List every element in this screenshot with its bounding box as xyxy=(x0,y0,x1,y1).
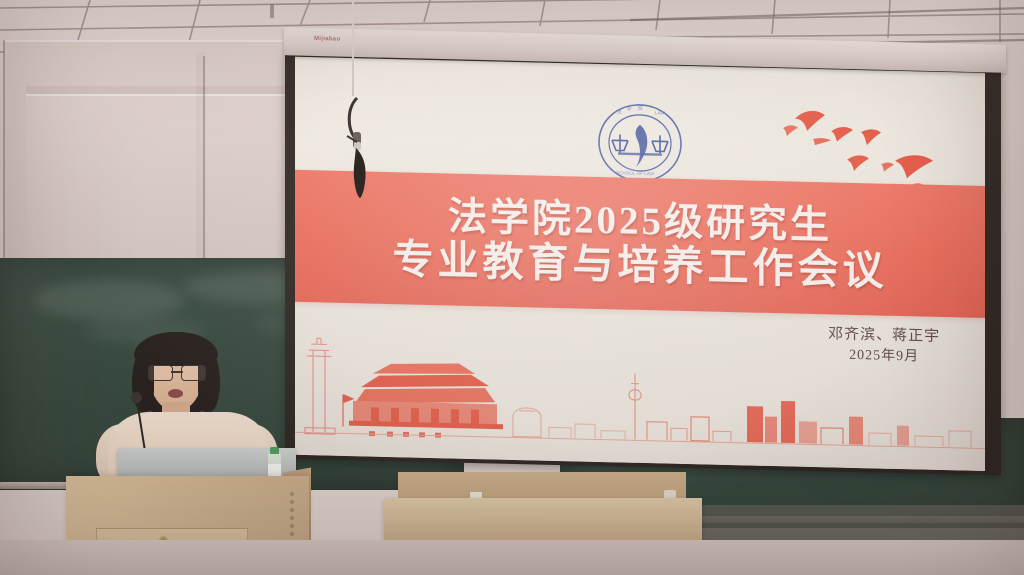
floor xyxy=(0,540,1024,575)
presentation-slide: 法学 院· LAW SCHOOL OF LAW xyxy=(295,57,985,471)
hanging-microphone-icon xyxy=(345,92,379,200)
projection-screen[interactable]: 法学 院· LAW SCHOOL OF LAW xyxy=(284,36,1006,468)
water-bottle-label xyxy=(268,464,281,476)
svg-text:SCHOOL OF LAW: SCHOOL OF LAW xyxy=(616,170,655,176)
svg-text:院: 院 xyxy=(638,105,643,112)
slide-title-group: 法学院2025级研究生 专业教育与培养工作会议 xyxy=(295,170,985,318)
microphone-cable xyxy=(352,0,354,96)
presenter-names: 邓齐滨、蒋正宇 xyxy=(828,324,940,348)
podium-microphone-icon xyxy=(131,392,142,403)
front-desk xyxy=(384,498,702,540)
svg-text:·: · xyxy=(649,107,651,112)
alcove-top-shadow xyxy=(196,52,206,258)
presenter-mouth xyxy=(168,389,183,398)
svg-text:LAW: LAW xyxy=(655,110,665,115)
slide-title-line-2: 专业教育与培养工作会议 xyxy=(393,238,888,292)
lecture-hall-scene: 法学 院· LAW SCHOOL OF LAW xyxy=(0,0,1024,575)
law-school-emblem-icon: 法学 院· LAW SCHOOL OF LAW xyxy=(596,100,684,186)
presenter-hair-right xyxy=(198,350,220,412)
city-skyline-illustration xyxy=(295,335,985,455)
roller-brand-label: Mijiabao xyxy=(314,36,340,43)
wall-seam-left xyxy=(3,40,5,260)
svg-text:法: 法 xyxy=(617,108,622,115)
screen-surface: 法学 院· LAW SCHOOL OF LAW xyxy=(295,57,985,471)
svg-text:学: 学 xyxy=(627,105,632,111)
wall-alcove-inner xyxy=(26,94,288,258)
screen-frame: 法学 院· LAW SCHOOL OF LAW xyxy=(285,54,1001,476)
glasses-icon xyxy=(148,365,206,380)
water-bottle-cap xyxy=(270,447,279,454)
alcove-ledge-shadow xyxy=(26,86,288,94)
